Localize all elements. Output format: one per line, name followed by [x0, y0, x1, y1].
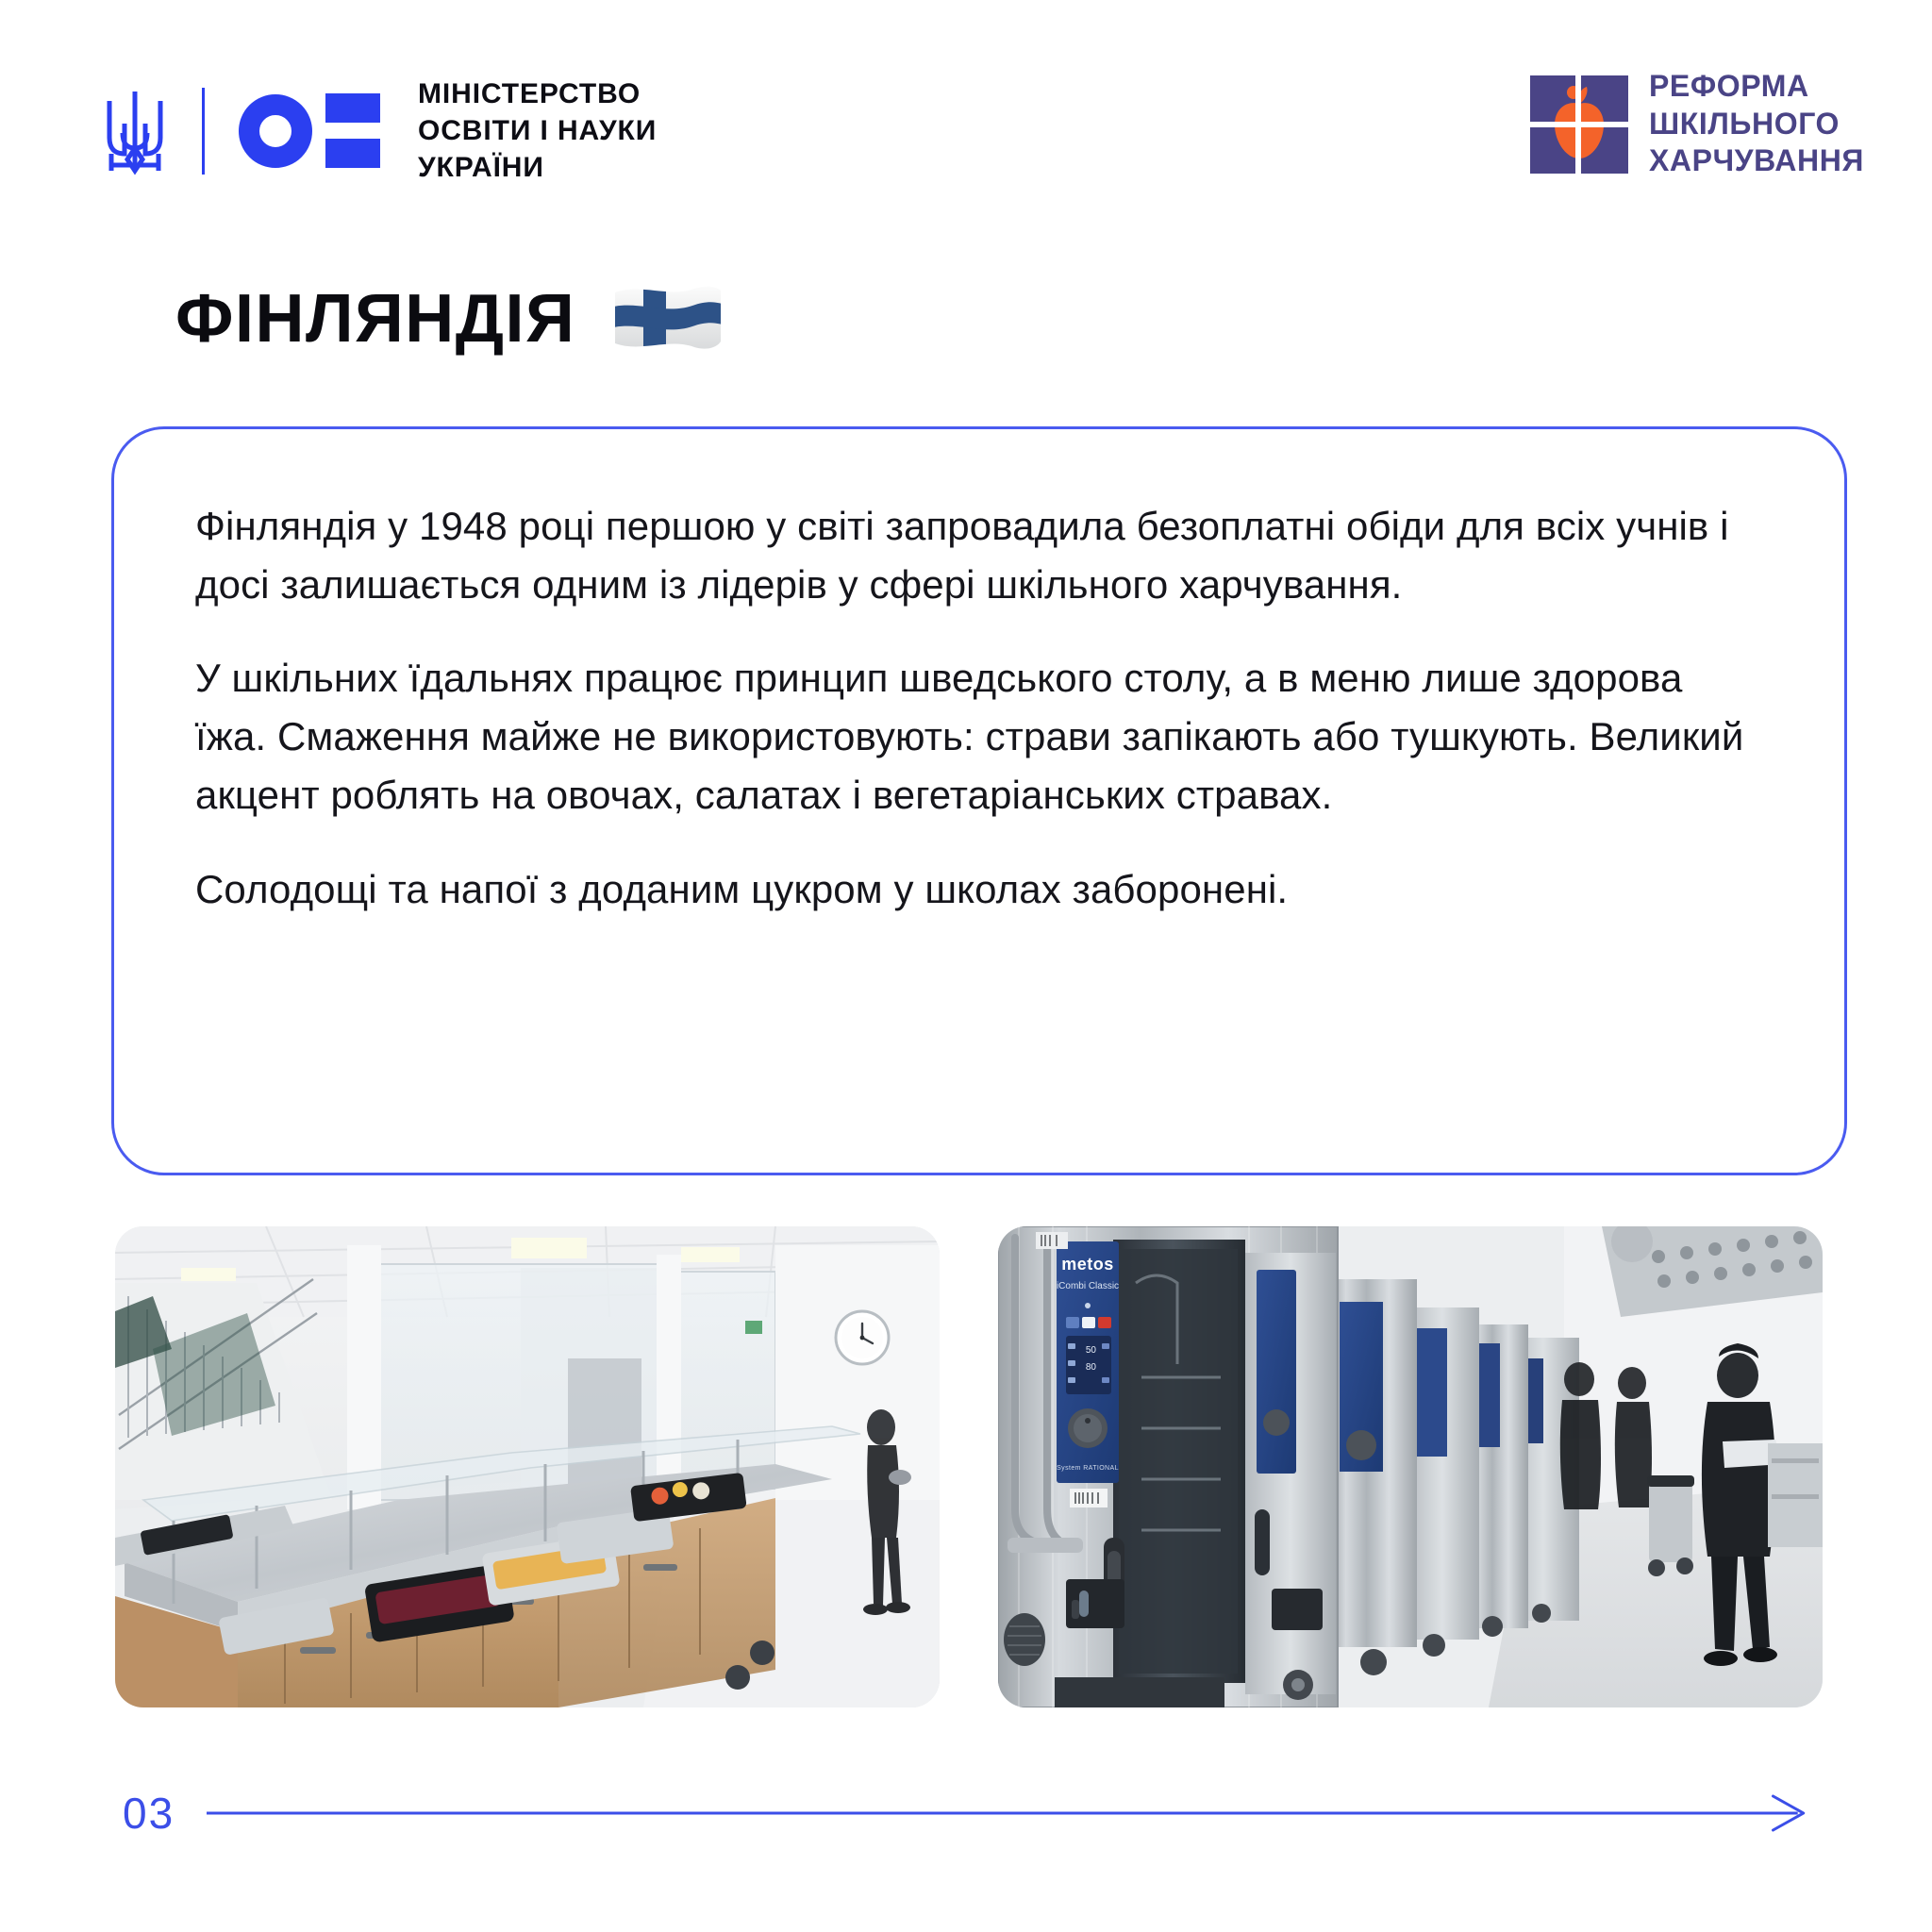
content-card: Фінляндія у 1948 році першою у світі зап… — [111, 426, 1847, 1175]
svg-text:iCombi Classic: iCombi Classic — [1057, 1281, 1119, 1291]
page-title-row: ФІНЛЯНДІЯ — [175, 279, 726, 358]
arrow-right-icon[interactable] — [207, 1794, 1821, 1832]
ministry-logo-line-3: УКРАЇНИ — [418, 149, 657, 186]
reform-logo-line-1: РЕФОРМА — [1649, 68, 1864, 106]
page-header: МІНІСТЕРСТВО ОСВІТИ І НАУКИ УКРАЇНИ РЕФО… — [0, 0, 1932, 217]
school-canteen-buffet-photo — [115, 1226, 940, 1707]
page-footer: 03 — [123, 1785, 1821, 1841]
ministry-logo-line-2: ОСВІТИ І НАУКИ — [418, 112, 657, 149]
apple-in-square-icon — [1530, 75, 1628, 174]
photo-gallery: metos iCombi Classic 50 80 — [115, 1226, 1823, 1707]
svg-text:metos: metos — [1061, 1255, 1114, 1274]
logo-divider — [202, 88, 205, 175]
ukraine-trident-icon — [102, 86, 168, 176]
finland-flag-icon — [609, 279, 726, 358]
circle-o-icon — [239, 94, 312, 168]
paragraph-1: Фінляндія у 1948 році першою у світі зап… — [195, 497, 1763, 613]
reform-logo-line-2: ШКІЛЬНОГО — [1649, 106, 1864, 143]
page-title: ФІНЛЯНДІЯ — [175, 285, 575, 353]
page-number: 03 — [123, 1791, 175, 1835]
reform-logo-text: РЕФОРМА ШКІЛЬНОГО ХАРЧУВАННЯ — [1649, 68, 1864, 180]
school-meal-reform-logo: РЕФОРМА ШКІЛЬНОГО ХАРЧУВАННЯ — [1530, 68, 1864, 180]
svg-text:80: 80 — [1086, 1362, 1097, 1373]
paragraph-3: Солодощі та напої з доданим цукром у шко… — [195, 860, 1763, 919]
industrial-kitchen-combi-ovens-photo: metos iCombi Classic 50 80 — [998, 1226, 1823, 1707]
ministry-of-education-logo: МІНІСТЕРСТВО ОСВІТИ І НАУКИ УКРАЇНИ — [102, 75, 657, 186]
equals-bars-icon — [325, 93, 380, 168]
paragraph-2: У шкільних їдальнях працює принцип шведс… — [195, 649, 1763, 824]
reform-logo-line-3: ХАРЧУВАННЯ — [1649, 142, 1864, 180]
ministry-logo-text: МІНІСТЕРСТВО ОСВІТИ І НАУКИ УКРАЇНИ — [418, 75, 657, 186]
ministry-logo-line-1: МІНІСТЕРСТВО — [418, 75, 657, 112]
svg-text:System RATIONAL: System RATIONAL — [1057, 1465, 1119, 1472]
svg-text:50: 50 — [1086, 1345, 1097, 1356]
